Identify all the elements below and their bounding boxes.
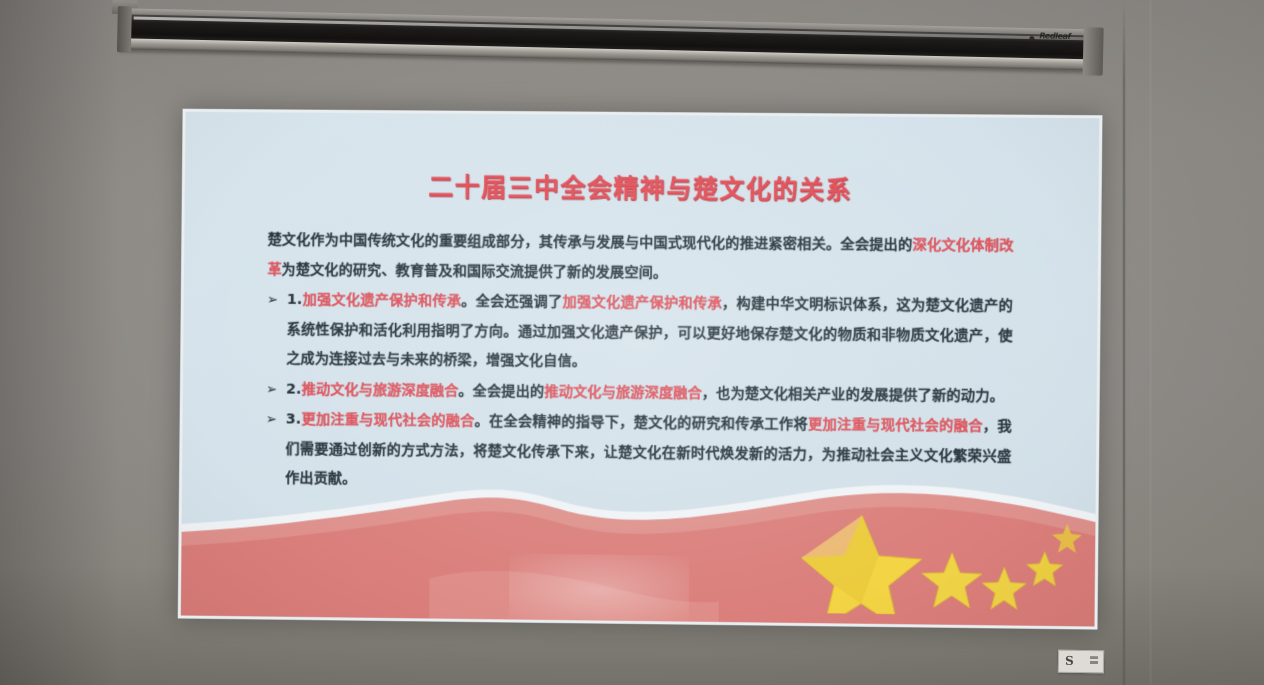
roller-brand-logo: Redleaf [1039,31,1070,41]
bullet-3-run-2-highlight: 更加注重与现代社会的融合 [808,417,983,435]
bullet-2-run-3: ，也为楚文化相关产业的发展提供了新的动力。 [702,385,1004,404]
bullet-number-3: 3. [286,411,302,427]
intro-run-2: 为楚文化的研究、教育普及和国际交流提供了新的发展空间。 [282,261,668,280]
bullet-number-1: 1. [287,292,303,308]
intro-run-0: 楚文化作为中国传统文化的重要组成部分，其传承与发展与中国式现代化的推进紧密相关。… [268,232,913,253]
bullet-3-run-0-highlight: 更加注重与现代社会的融合 [301,412,474,430]
bullet-1-run-2-highlight: 加强文化遗产保护和传承 [562,294,722,311]
bullet-2-run-0-highlight: 推动文化与旅游深度融合 [301,381,458,399]
slide-five-stars-decoration [799,503,1082,617]
roller-left-endcap [117,6,132,52]
slide-title: 二十届三中全会精神与楚文化的关系 [268,166,1014,208]
bullet-1-run-0-highlight: 加强文化遗产保护和传承 [302,292,461,309]
wall-sticker-marks [1090,656,1098,666]
small-star-3 [1026,551,1063,586]
bullet-1-run-1: 。全会还强调了 [461,293,562,310]
slide-content: 二十届三中全会精神与楚文化的关系 楚文化作为中国传统文化的重要组成部分，其传承与… [182,166,1099,503]
roller-right-endcap [1083,27,1104,75]
bullet-number-2: 2. [286,381,302,397]
wall-seam-highlight [1150,0,1151,685]
bullet-arrow-icon-1: ➢ [267,286,278,315]
bullet-item-1: ➢1.加强文化遗产保护和传承。全会还强调了加强文化遗产保护和传承，构建中华文明标… [266,286,1013,381]
bullet-list: ➢1.加强文化遗产保护和传承。全会还强调了加强文化遗产保护和传承，构建中华文明标… [265,286,1013,502]
small-star-1 [921,552,982,608]
bullet-2-run-1: 。全会提出的 [458,383,544,400]
bullet-arrow-icon-3: ➢ [266,405,277,435]
big-star [801,515,923,617]
bullet-2-run-2-highlight: 推动文化与旅游深度融合 [544,384,702,402]
wall-sticker-label: S [1058,650,1104,674]
intro-paragraph: 楚文化作为中国传统文化的重要组成部分，其传承与发展与中国式现代化的推进紧密相关。… [267,226,1013,291]
bullet-item-3: ➢3.更加注重与现代社会的融合。在全会精神的指导下，楚文化的研究和传承工作将更加… [265,405,1012,501]
slide-text-block: 楚文化作为中国传统文化的重要组成部分，其传承与发展与中国式现代化的推进紧密相关。… [265,226,1013,502]
roller-screw [1029,36,1034,41]
wall-seam-line [1123,0,1125,685]
slide-canvas: 二十届三中全会精神与楚文化的关系 楚文化作为中国传统文化的重要组成部分，其传承与… [181,112,1100,627]
small-star-4 [1052,524,1082,553]
bullet-3-run-1: 。在全会精神的指导下，楚文化的研究和传承工作将 [474,413,808,432]
bullet-arrow-icon-2: ➢ [266,375,277,405]
projected-slide: 二十届三中全会精神与楚文化的关系 楚文化作为中国传统文化的重要组成部分，其传承与… [178,109,1103,630]
classroom-photo-scene: Redleaf [0,0,1264,685]
wall-sticker-text: S [1065,654,1074,668]
small-star-2 [982,567,1027,610]
slide-outer-border: 二十届三中全会精神与楚文化的关系 楚文化作为中国传统文化的重要组成部分，其传承与… [178,109,1103,630]
